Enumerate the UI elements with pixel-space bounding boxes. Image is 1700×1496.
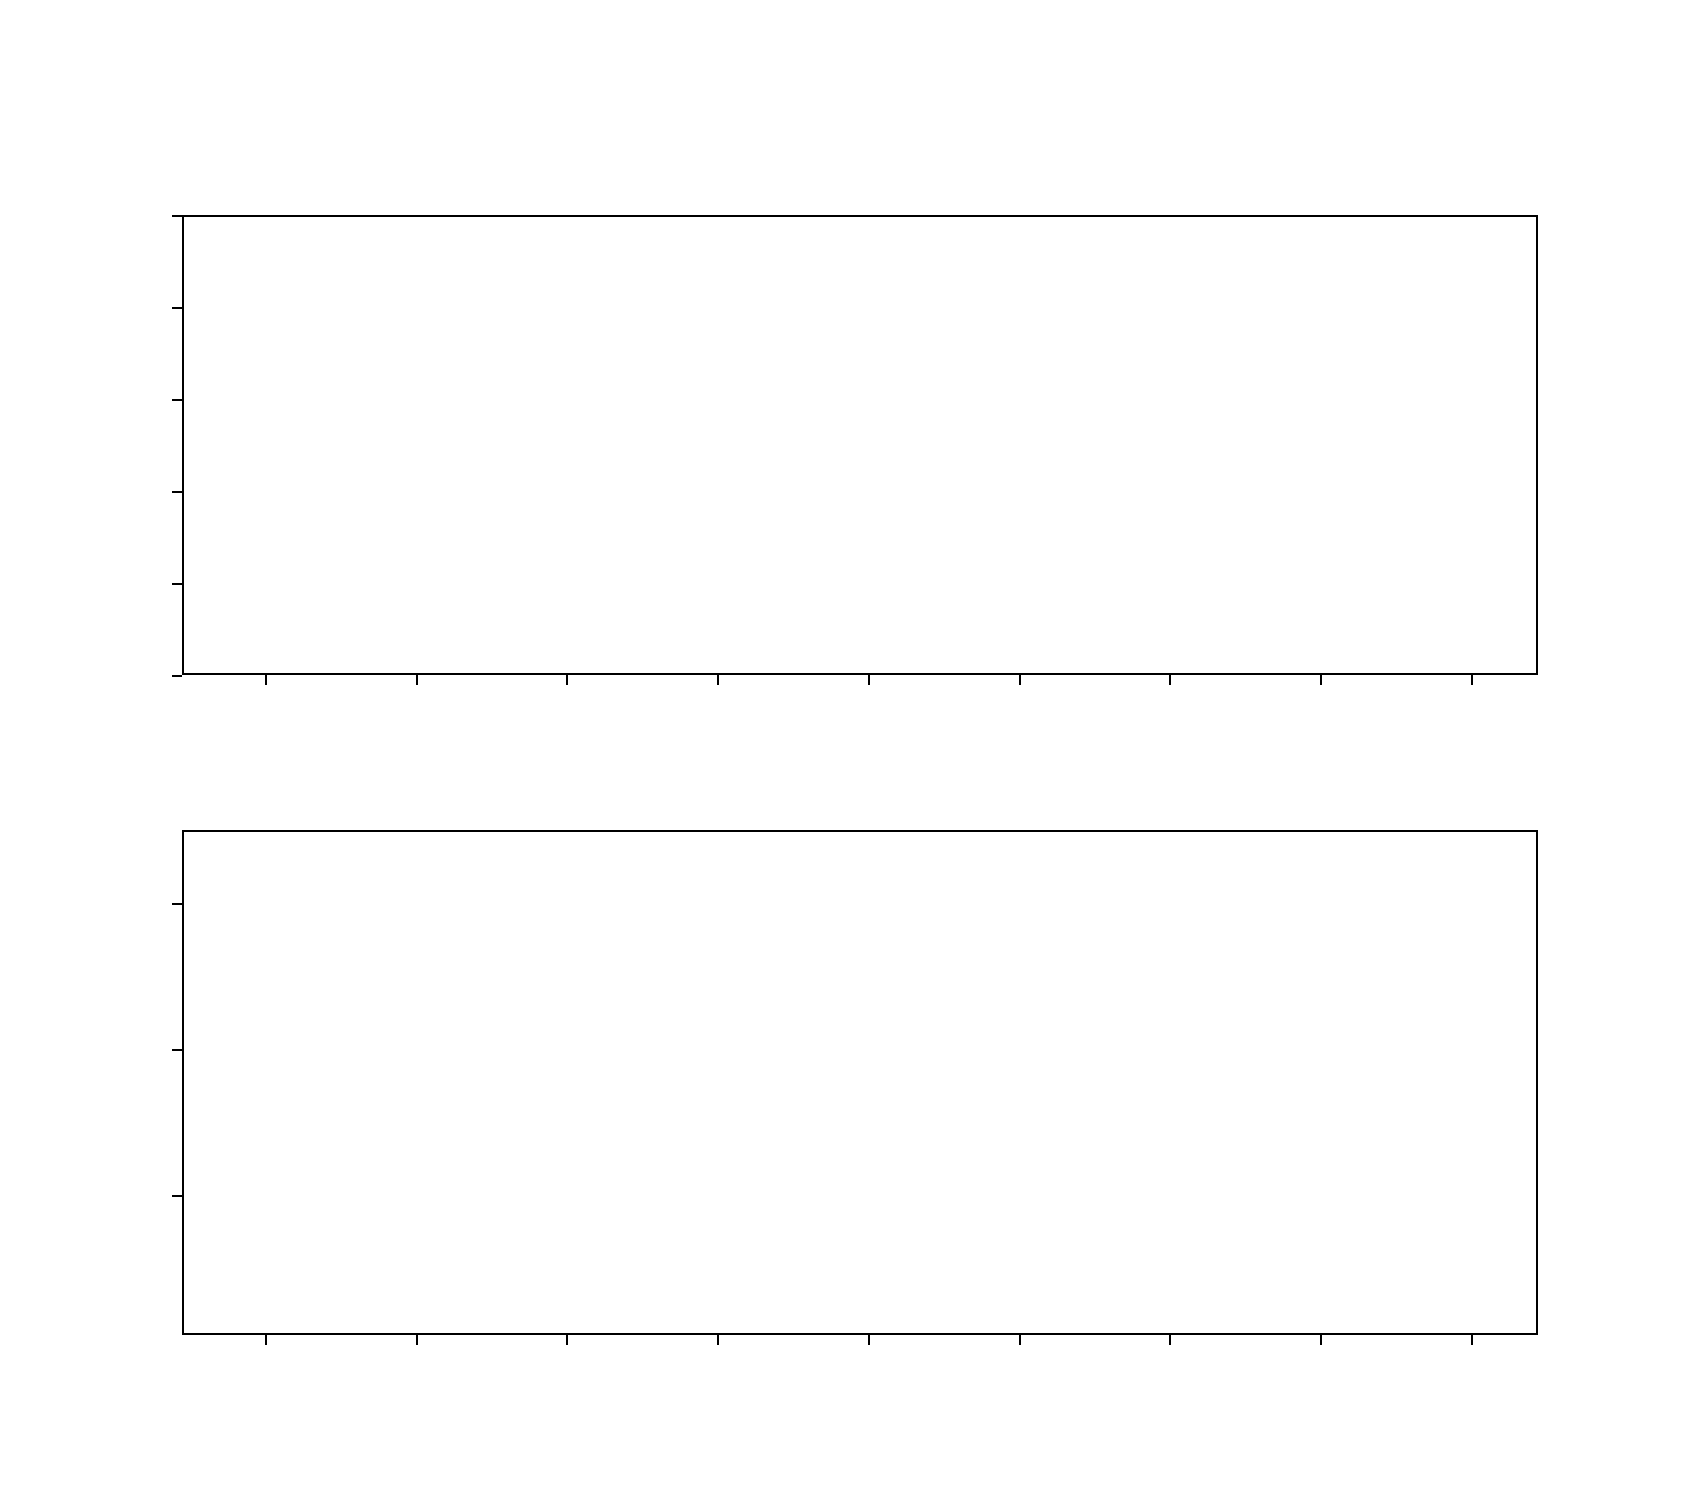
top-ytick-0.0: [172, 675, 182, 677]
top-xtick-40: [1169, 675, 1171, 685]
bottom-xtick--20: [717, 1335, 719, 1345]
top-xtick-20: [1019, 675, 1021, 685]
top-xtick-60: [1320, 675, 1322, 685]
legend-swatch-test-icon: [438, 120, 500, 126]
bottom-xtick-0: [868, 1335, 870, 1345]
top-xtick--40: [566, 675, 568, 685]
bottom-xtick--40: [566, 1335, 568, 1345]
top-ytick-0.8: [172, 307, 182, 309]
figure-canvas: [0, 0, 1700, 1496]
bottom-ytick-0: [172, 1049, 182, 1051]
top-plot-curves: [184, 217, 1536, 673]
bottom-xtick-80: [1471, 1335, 1473, 1345]
top-plot-axes: [182, 215, 1538, 675]
top-xtick--20: [717, 675, 719, 685]
bottom-xtick--80: [265, 1335, 267, 1345]
top-ytick-0.6: [172, 399, 182, 401]
legend-swatch-baseline-icon: [438, 190, 500, 196]
bottom-ytick--2: [172, 1195, 182, 1197]
bottom-xtick-60: [1320, 1335, 1322, 1345]
bottom-plot-axes: [182, 830, 1538, 1335]
top-xtick-80: [1471, 675, 1473, 685]
bottom-xtick-40: [1169, 1335, 1171, 1345]
top-ytick-1.0: [172, 215, 182, 217]
top-xtick--80: [265, 675, 267, 685]
top-xtick-0: [868, 675, 870, 685]
legend-entry-test: [438, 104, 1558, 138]
legend-entry-baseline: [438, 138, 1558, 172]
bottom-xtick--60: [416, 1335, 418, 1345]
bottom-plot-curves: [184, 832, 1536, 1333]
legend: [438, 104, 1558, 172]
bottom-xtick-20: [1019, 1335, 1021, 1345]
top-xtick--60: [416, 675, 418, 685]
top-ytick-0.2: [172, 583, 182, 585]
top-ytick-0.4: [172, 491, 182, 493]
bottom-ytick-2: [172, 903, 182, 905]
